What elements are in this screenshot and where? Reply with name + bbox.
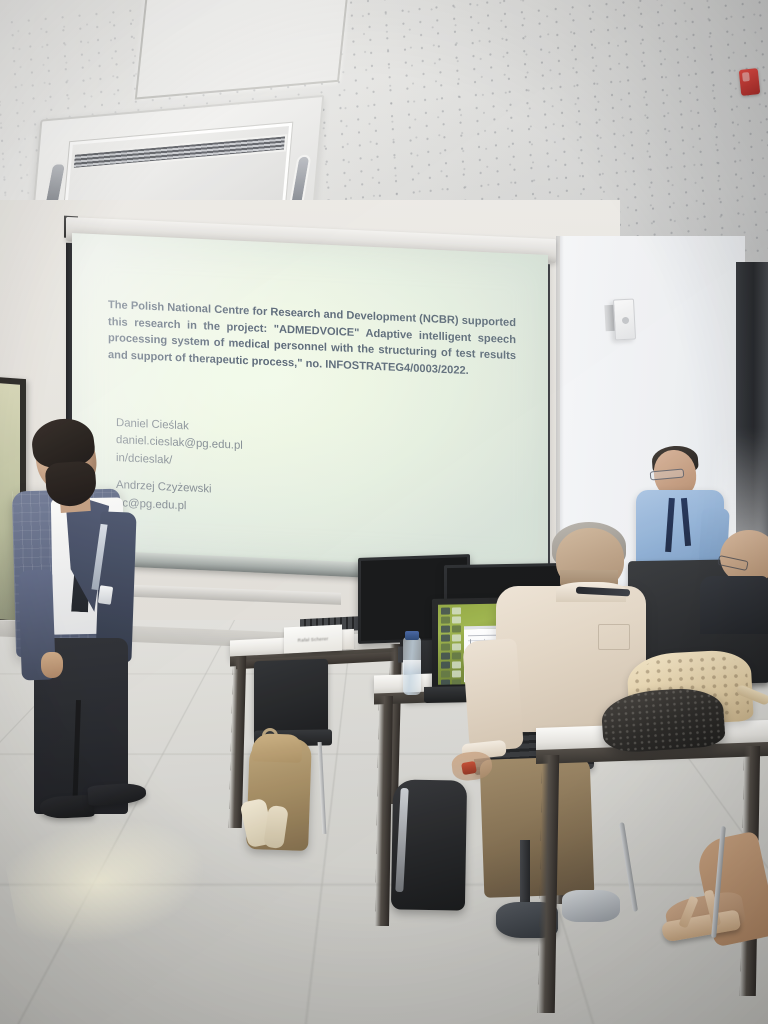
shirt-pocket xyxy=(598,624,630,650)
desktop-icon xyxy=(441,617,450,624)
wristwatch xyxy=(461,761,477,775)
desktop-icon xyxy=(452,625,461,632)
desktop-icons xyxy=(440,606,462,682)
desktop-icon xyxy=(441,635,450,642)
person-shoe xyxy=(562,890,620,922)
person-torso xyxy=(700,576,768,634)
desktop-icon xyxy=(441,644,450,651)
desktop-icon xyxy=(452,607,461,614)
name-card-label: Rafał Scherer xyxy=(298,636,329,643)
wall-speaker-icon xyxy=(613,298,636,340)
presenter-hand xyxy=(41,652,63,678)
desktop-icon xyxy=(452,661,461,668)
desktop-icon xyxy=(452,634,461,641)
person-legs xyxy=(480,756,595,898)
bottle-cap xyxy=(405,631,419,640)
desktop-icon xyxy=(441,662,450,669)
backpack-flap xyxy=(252,733,303,763)
name-card: Rafał Scherer xyxy=(284,624,342,653)
bottle-label xyxy=(403,660,421,674)
desktop-icon xyxy=(441,608,450,615)
desktop-icon xyxy=(441,653,450,660)
desktop-icon xyxy=(452,670,461,677)
badge xyxy=(98,585,113,605)
desktop-icon xyxy=(452,679,461,684)
conference-room-photo: The Polish National Centre for Research … xyxy=(0,0,768,1024)
desktop-icon xyxy=(441,680,450,685)
slide-acknowledgement-text: The Polish National Centre for Research … xyxy=(108,297,516,382)
desktop-icon xyxy=(441,671,450,678)
desktop-icon xyxy=(452,643,461,650)
screen-glare xyxy=(72,233,548,577)
desktop-icon xyxy=(441,626,450,633)
projection-screen: The Polish National Centre for Research … xyxy=(72,233,548,577)
presenter-shoe xyxy=(39,795,94,820)
ac-blades xyxy=(106,186,250,199)
desktop-icon xyxy=(452,616,461,623)
slide-contact-block: Daniel Cieślak daniel.cieslak@pg.edu.pl … xyxy=(116,415,416,526)
chair-backrest xyxy=(254,659,328,738)
desktop-icon xyxy=(452,652,461,659)
fire-alarm-icon xyxy=(739,68,761,96)
person-arm xyxy=(462,638,524,751)
